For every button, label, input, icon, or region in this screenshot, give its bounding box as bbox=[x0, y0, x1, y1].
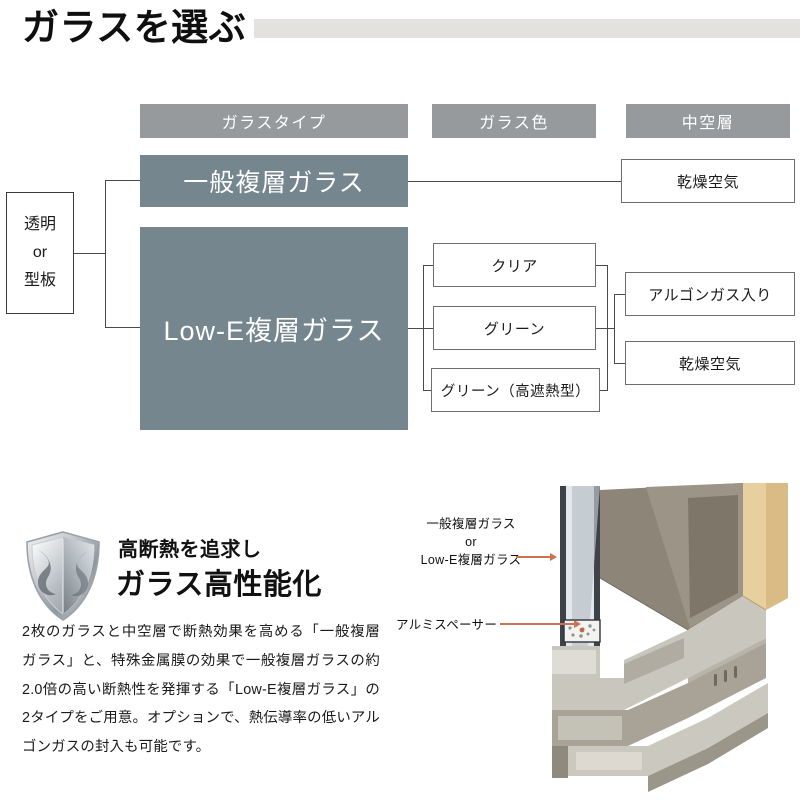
glass-selection-page: ガラスを選ぶ ガラスタイプ ガラス色 中空層 透明 or 型板 一般複層ガラス … bbox=[0, 0, 800, 800]
callout-aluminum-spacer: アルミスペーサー bbox=[396, 616, 497, 634]
callout-glass-line-3: Low-E複層ガラス bbox=[396, 551, 546, 569]
callout-spacer-line-1: アルミスペーサー bbox=[396, 616, 497, 634]
window-sash-cross-section-photo bbox=[538, 478, 800, 800]
callout-glass-leader-line bbox=[516, 556, 552, 558]
base-option-line-2: or bbox=[33, 239, 47, 267]
glass-type-lowe-block[interactable]: Low-E複層ガラス bbox=[140, 227, 408, 430]
callout-glass-line-1: 一般複層ガラス bbox=[396, 515, 546, 533]
column-header-cavity-layer: 中空層 bbox=[626, 104, 790, 138]
connector-to-lowe-glass bbox=[105, 327, 141, 328]
glass-color-green-box[interactable]: グリーン bbox=[433, 306, 596, 350]
cavity-argon-gas-box[interactable]: アルゴンガス入り bbox=[625, 272, 795, 316]
connector-base-stem bbox=[74, 253, 106, 254]
glass-type-standard-block[interactable]: 一般複層ガラス bbox=[140, 155, 408, 207]
connector-standard-to-dryair bbox=[408, 181, 621, 182]
base-option-line-3: 型板 bbox=[24, 267, 56, 295]
feature-lead-big: ガラス高性能化 bbox=[116, 561, 322, 603]
feature-lead-small: 高断熱を追求し bbox=[118, 533, 262, 562]
glass-color-green-shade-box[interactable]: グリーン（高遮熱型） bbox=[431, 368, 600, 412]
glass-color-clear-box[interactable]: クリア bbox=[433, 243, 596, 287]
callout-glass-type: 一般複層ガラス or Low-E複層ガラス bbox=[396, 515, 546, 569]
cavity-lowe-dry-air-box[interactable]: 乾燥空気 bbox=[625, 341, 795, 385]
connector-lowe-stem bbox=[408, 328, 424, 329]
base-option-box[interactable]: 透明 or 型板 bbox=[6, 192, 74, 314]
callout-glass-line-2: or bbox=[396, 533, 546, 551]
connector-cavity-spine-out bbox=[614, 294, 615, 364]
callout-spacer-leader-arrow bbox=[574, 620, 581, 628]
glass-selection-flowchart: ガラスタイプ ガラス色 中空層 透明 or 型板 一般複層ガラス Low-E複層… bbox=[0, 0, 800, 470]
performance-shield-icon bbox=[24, 530, 102, 622]
feature-body-copy: 2枚のガラスと中空層で断熱効果を高める「一般複層ガラス」と、特殊金属膜の効果で一… bbox=[22, 618, 380, 762]
connector-base-spine bbox=[105, 180, 106, 328]
cavity-standard-dry-air-box[interactable]: 乾燥空気 bbox=[621, 159, 795, 203]
base-option-line-1: 透明 bbox=[24, 211, 56, 239]
connector-to-standard-glass bbox=[105, 180, 141, 181]
callout-glass-leader-arrow bbox=[550, 553, 557, 561]
callout-spacer-leader-line bbox=[500, 623, 576, 625]
column-header-glass-color: ガラス色 bbox=[432, 104, 596, 138]
column-header-glass-type: ガラスタイプ bbox=[140, 104, 408, 138]
